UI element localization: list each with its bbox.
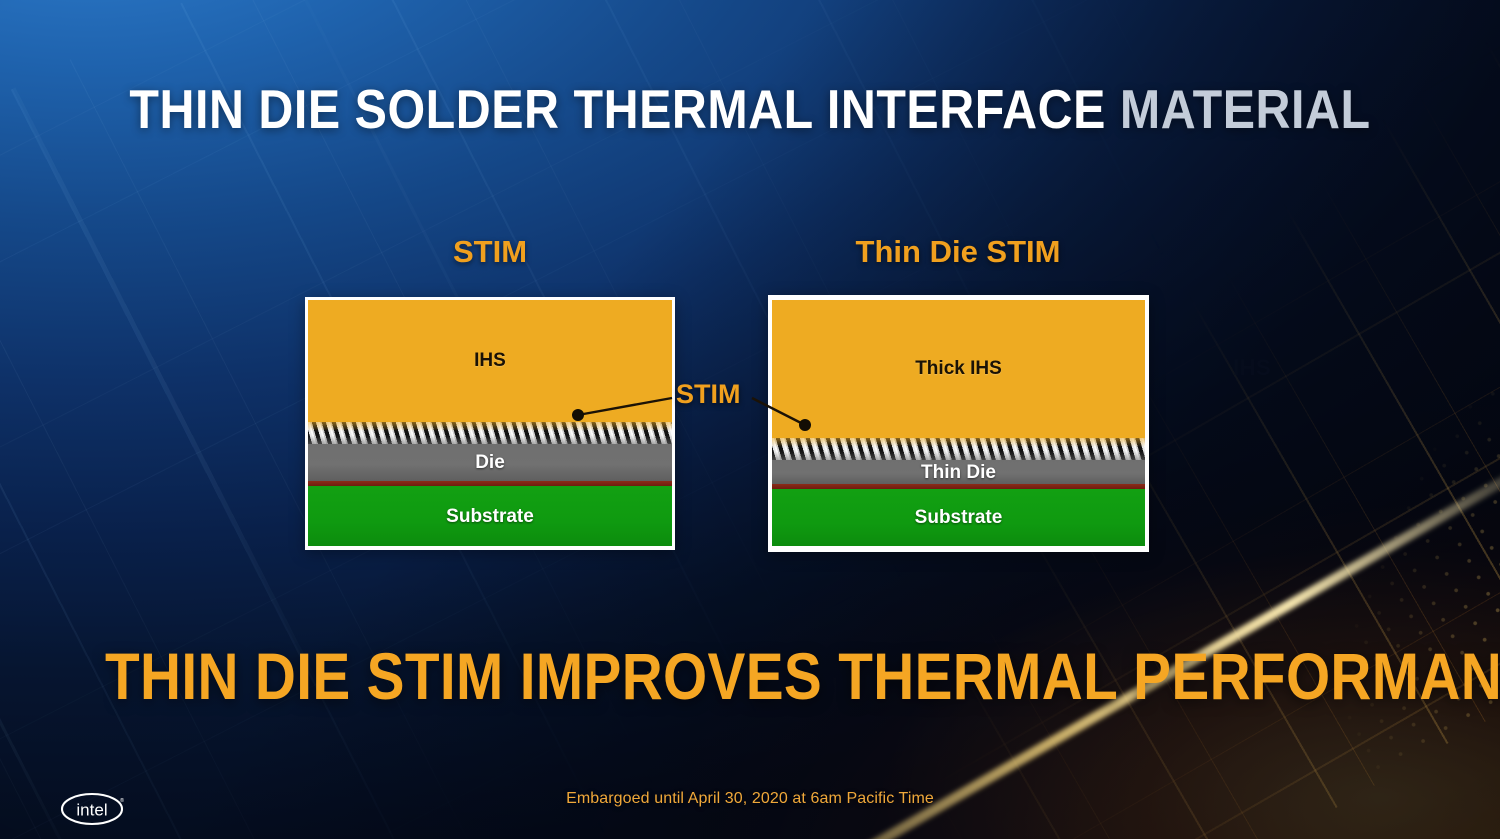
slide-root: IHS THIN DIE SOLDER THERMAL INTERFACE MA…: [0, 0, 1500, 839]
layer-label-thin-die: Thin Die: [921, 463, 996, 482]
callout-label-stim: STIM: [676, 379, 741, 410]
page-title-emphasis: MATERIAL: [1120, 78, 1371, 140]
tagline: THIN DIE STIM IMPROVES THERMAL PERFORMAN…: [105, 643, 1395, 709]
layer-label-thick-ihs: Thick IHS: [915, 359, 1002, 378]
layer-thick-ihs: Thick IHS: [772, 300, 1145, 438]
diagram-stack-stim: IHS Die Substrate: [305, 297, 675, 550]
layer-label-substrate: Substrate: [446, 507, 534, 526]
page-title: THIN DIE SOLDER THERMAL INTERFACE MATERI…: [90, 82, 1410, 137]
embargo-notice: Embargoed until April 30, 2020 at 6am Pa…: [0, 790, 1500, 808]
diagram-header-thin-die-stim: Thin Die STIM: [768, 234, 1148, 270]
layer-substrate: Substrate: [772, 489, 1145, 546]
slide-content: THIN DIE SOLDER THERMAL INTERFACE MATERI…: [0, 0, 1500, 839]
layer-group-stim: IHS Die Substrate: [308, 300, 672, 546]
layer-label-die: Die: [475, 453, 505, 472]
layer-substrate: Substrate: [308, 486, 672, 546]
intel-logo-wordmark: intel: [76, 801, 107, 820]
layer-label-substrate: Substrate: [915, 508, 1003, 527]
layer-ihs: IHS: [308, 300, 672, 422]
layer-group-thin-die-stim: Thick IHS Thin Die Substrate: [772, 300, 1145, 546]
layer-thin-die: Thin Die: [772, 460, 1145, 485]
registered-mark-icon: ®: [120, 797, 124, 804]
layer-die: Die: [308, 444, 672, 481]
layer-solder-tim: [308, 422, 672, 444]
diagram-stack-thin-die-stim: Thick IHS Thin Die Substrate: [768, 295, 1149, 552]
layer-label-ihs: IHS: [474, 351, 506, 370]
layer-solder-tim: [772, 438, 1145, 460]
diagram-header-stim: STIM: [305, 234, 675, 270]
page-title-main: THIN DIE SOLDER THERMAL INTERFACE: [129, 78, 1119, 140]
intel-logo: intel ®: [58, 789, 130, 829]
